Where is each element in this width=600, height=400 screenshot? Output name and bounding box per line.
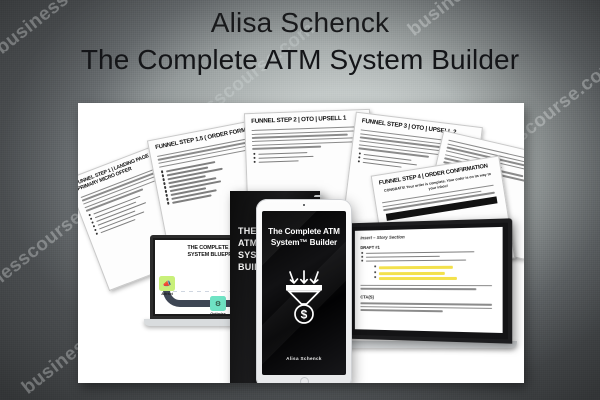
home-button-icon <box>300 377 309 383</box>
document-body-lines <box>355 283 503 290</box>
tablet-author: Alisa Schenck <box>262 356 346 361</box>
product-mockup-card: FUNNEL STEP 1 | LANDING PAGE | PRIMARY M… <box>78 103 524 383</box>
gear-icon: ⚙ <box>210 296 226 311</box>
document-bullet-list <box>355 249 503 262</box>
laptop-right-screen: Insert – Story Section DRAFT #1 CTA(S) <box>343 218 512 343</box>
course-title: The Complete ATM System Builder <box>0 44 600 75</box>
node-label-optimize: Optimize <box>203 312 233 314</box>
author-name: Alisa Schenck <box>0 8 600 38</box>
page-title: Alisa Schenck The Complete ATM System Bu… <box>0 8 600 76</box>
node-label-attract: Attract <box>155 292 182 296</box>
camera-icon <box>303 204 305 206</box>
funnel-with-dollar-icon: $ <box>262 269 346 325</box>
megaphone-icon: 📣 <box>159 276 175 291</box>
tablet-cover-title: The Complete ATM System™ Builder <box>266 227 342 248</box>
tablet-device: The Complete ATM System™ Builder $ Alisa… <box>256 199 352 383</box>
laptop-right-document: Insert – Story Section DRAFT #1 CTA(S) <box>355 227 503 333</box>
tablet-screen: The Complete ATM System™ Builder $ Alisa… <box>262 211 346 375</box>
highlighted-lines <box>355 263 503 280</box>
laptop-right: Insert – Story Section DRAFT #1 CTA(S) <box>338 221 510 348</box>
tablet-title-line2: System™ Builder <box>266 238 342 249</box>
svg-text:$: $ <box>301 307 308 321</box>
tablet-title-line1: The Complete ATM <box>266 227 342 238</box>
document-footer-lines <box>355 300 503 313</box>
